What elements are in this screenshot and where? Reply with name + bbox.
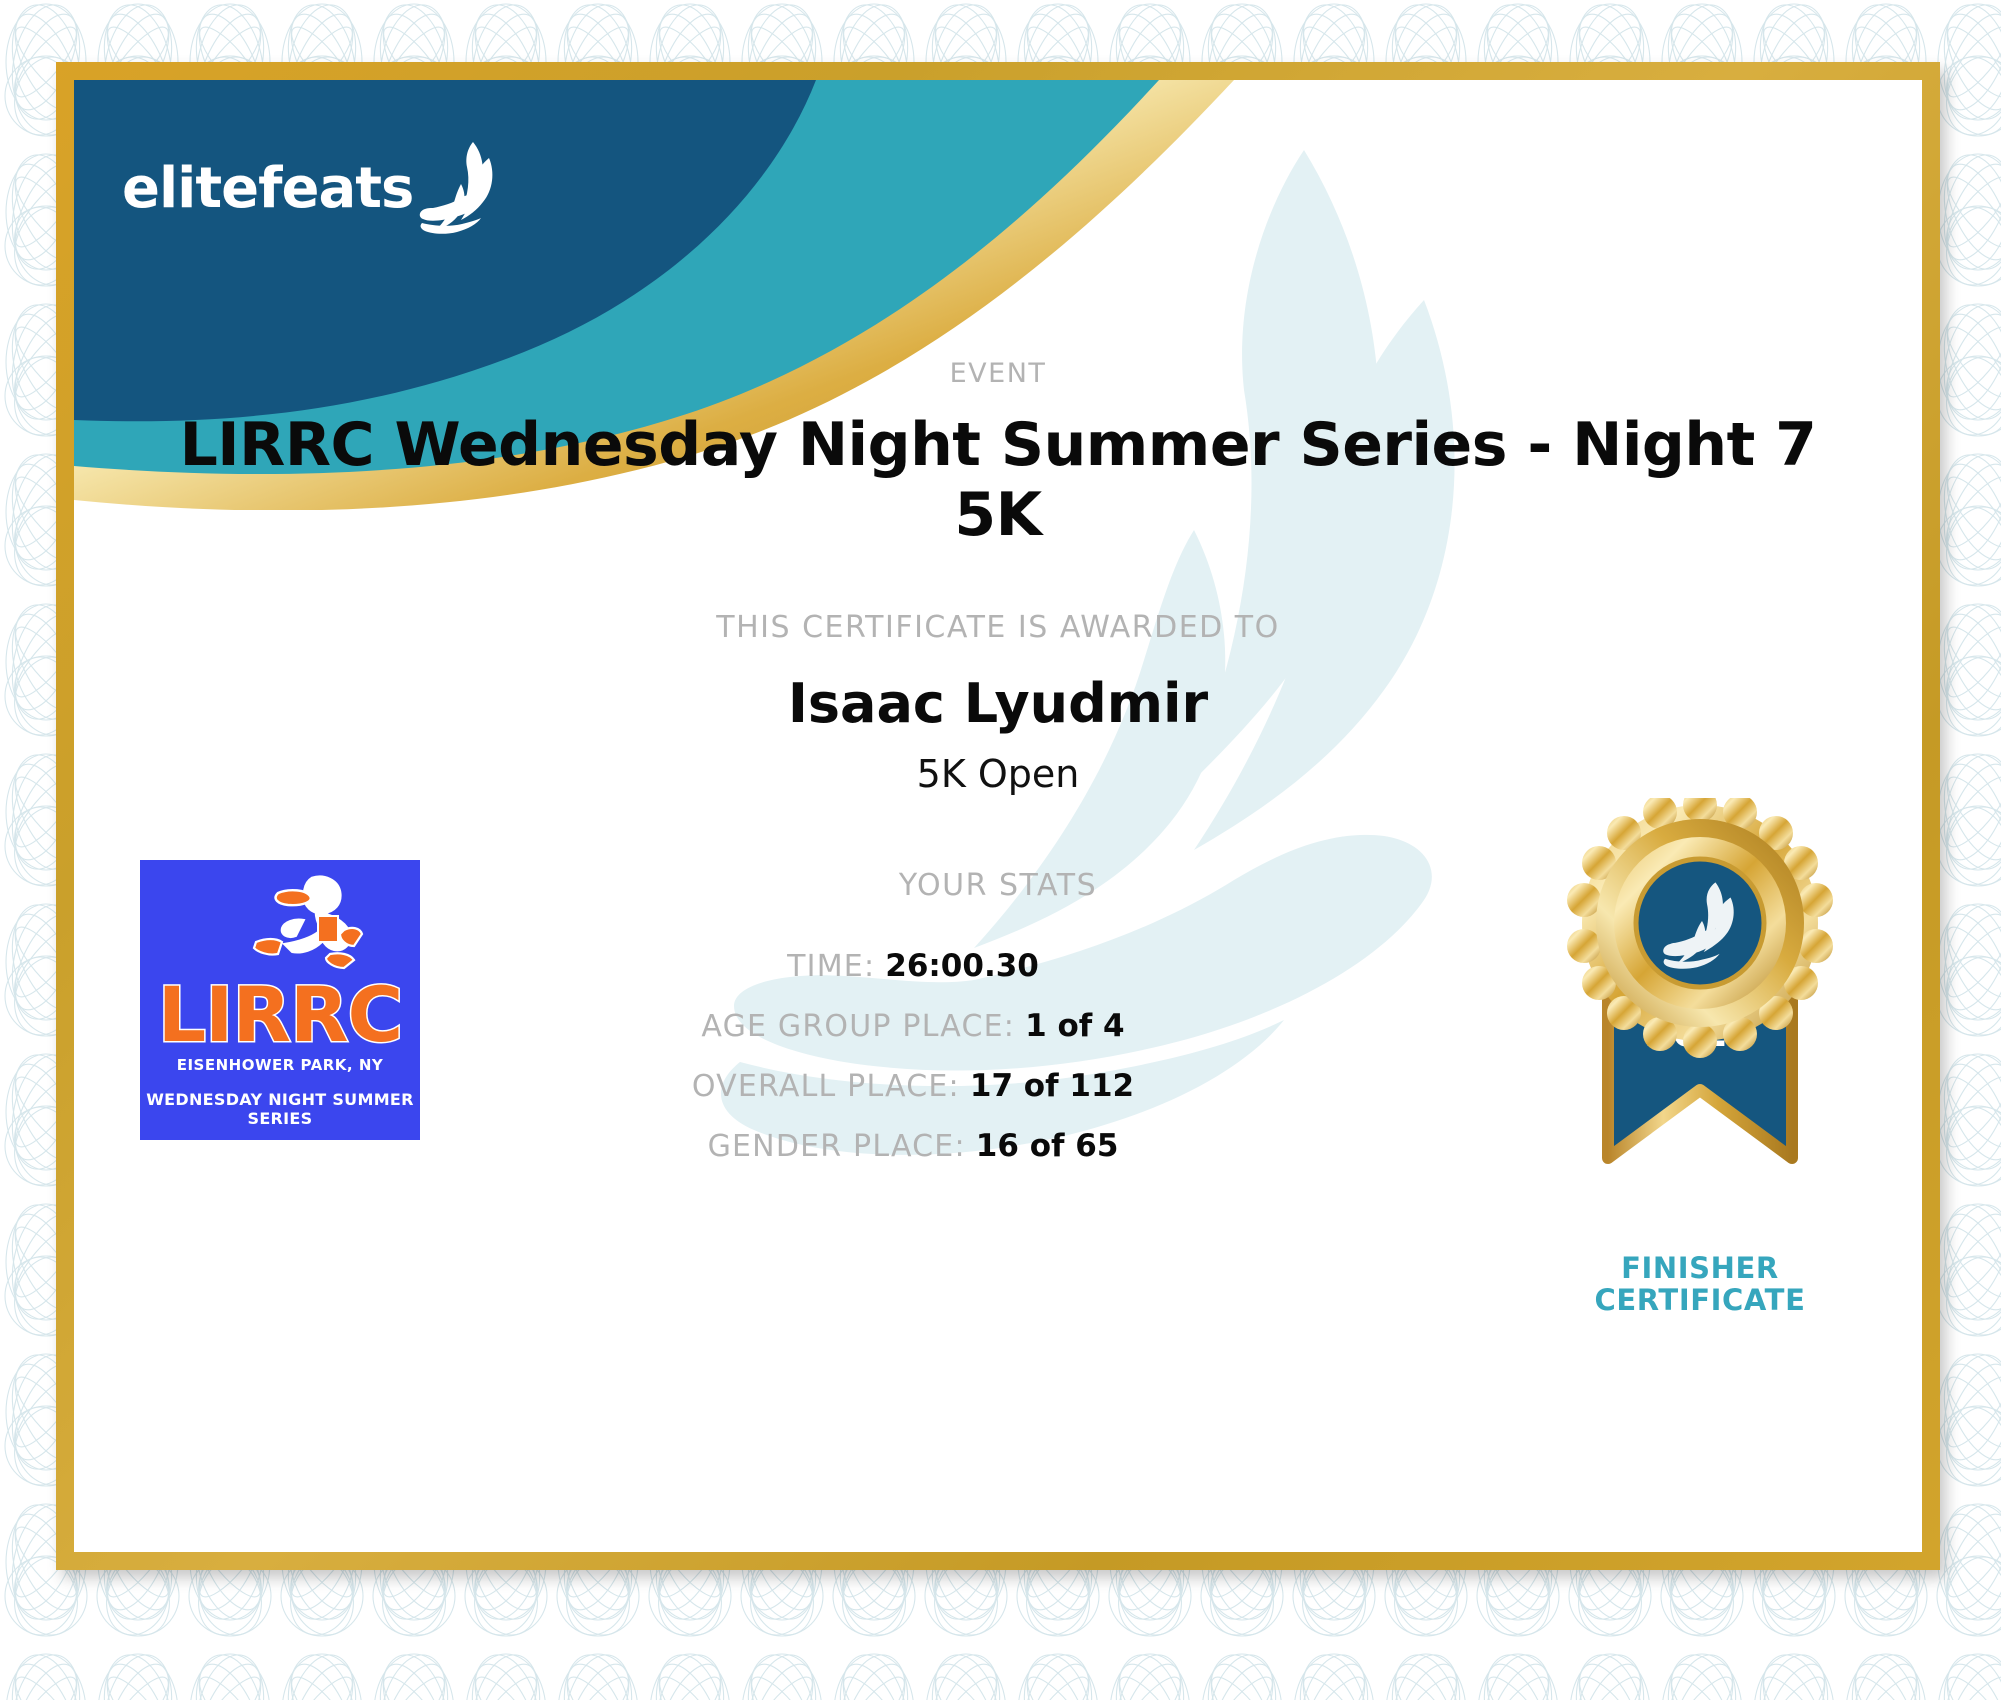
stat-value: 1 of 4 xyxy=(1025,1008,1125,1044)
elitefeats-logo: elitefeats xyxy=(122,140,503,236)
medal-caption: FINISHER CERTIFICATE xyxy=(1530,1252,1870,1317)
lirrc-location: EISENHOWER PARK, NY xyxy=(140,1056,420,1074)
recipient-division: 5K Open xyxy=(74,752,1922,796)
stat-key: TIME: xyxy=(787,949,875,984)
awarded-to-label: THIS CERTIFICATE IS AWARDED TO xyxy=(74,610,1922,645)
finisher-medal-badge: 2025 xyxy=(1550,798,1850,1268)
recipient-name: Isaac Lyudmir xyxy=(74,672,1922,735)
lirrc-wordmark: LIRRC xyxy=(140,970,420,1059)
gold-frame: elitefeats EVENT LIRRC Wednesday Night S… xyxy=(56,62,1940,1570)
winged-foot-icon xyxy=(417,140,503,236)
brand-wordmark: elitefeats xyxy=(122,156,413,221)
stat-key: GENDER PLACE: xyxy=(708,1129,966,1164)
medal-caption-line1: FINISHER xyxy=(1621,1251,1779,1285)
stat-value: 26:00.30 xyxy=(885,948,1039,984)
certificate-page: elitefeats EVENT LIRRC Wednesday Night S… xyxy=(0,0,2001,1700)
stat-key: OVERALL PLACE: xyxy=(692,1069,960,1104)
stat-value: 17 of 112 xyxy=(970,1068,1134,1104)
certificate-card: elitefeats EVENT LIRRC Wednesday Night S… xyxy=(74,80,1922,1552)
running-goose-icon xyxy=(226,868,376,978)
certificate-content: EVENT LIRRC Wednesday Night Summer Serie… xyxy=(74,80,1922,1552)
event-label: EVENT xyxy=(74,358,1922,389)
stat-key: AGE GROUP PLACE: xyxy=(701,1009,1015,1044)
stat-value: 16 of 65 xyxy=(976,1128,1119,1164)
medal-caption-line2: CERTIFICATE xyxy=(1595,1283,1806,1317)
lirrc-series: WEDNESDAY NIGHT SUMMER SERIES xyxy=(140,1090,420,1128)
event-title: LIRRC Wednesday Night Summer Series - Ni… xyxy=(134,410,1862,550)
lirrc-race-logo: LIRRC EISENHOWER PARK, NY WEDNESDAY NIGH… xyxy=(140,860,420,1140)
